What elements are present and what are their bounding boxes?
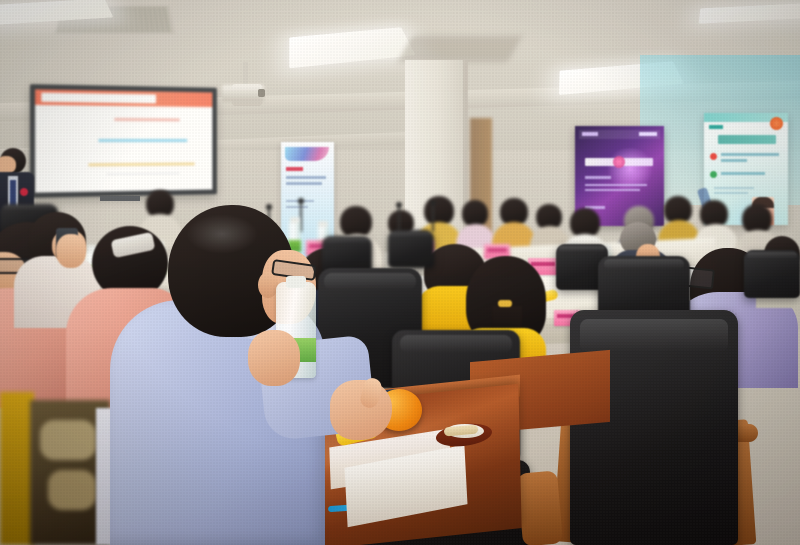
banner-text-line bbox=[286, 182, 322, 185]
projected-slide bbox=[35, 89, 212, 192]
person-raised-hand bbox=[56, 234, 86, 268]
projection-screen-base bbox=[100, 196, 140, 201]
projector-lens-icon bbox=[258, 89, 265, 97]
bottle-cap bbox=[290, 217, 300, 223]
foreground-blur-object bbox=[48, 470, 96, 510]
banner-text-line bbox=[585, 184, 647, 186]
conference-chair bbox=[388, 230, 434, 268]
banner-logo-right bbox=[639, 132, 657, 136]
banner-text-line bbox=[286, 176, 326, 179]
banner-text-line bbox=[721, 172, 765, 175]
projection-screen bbox=[30, 84, 217, 198]
conference-chair bbox=[744, 250, 800, 298]
bottle-cap bbox=[286, 276, 306, 288]
placard-text bbox=[487, 248, 507, 252]
foreground-yellow-object bbox=[0, 392, 34, 545]
slide-text-line bbox=[114, 118, 180, 121]
banner-bullet-icon bbox=[710, 153, 717, 160]
banner-logo bbox=[709, 125, 723, 129]
person-head-far bbox=[462, 200, 488, 227]
gooseneck-microphone bbox=[432, 204, 434, 232]
foreground-man-ear bbox=[258, 272, 278, 298]
banner-text-line bbox=[721, 153, 779, 156]
slide-text-line bbox=[106, 172, 179, 175]
banner-logo bbox=[286, 167, 303, 171]
presenter-lapel-flower bbox=[20, 188, 28, 196]
hair-tie bbox=[498, 300, 512, 307]
ceiling-shadow bbox=[398, 36, 522, 62]
placard-text bbox=[531, 262, 555, 266]
foreground-conference-chair bbox=[570, 310, 738, 545]
banner-text-line bbox=[286, 206, 308, 208]
banner-accent-dot bbox=[613, 156, 625, 168]
banner-graphic bbox=[285, 147, 329, 161]
banner-text-line bbox=[585, 176, 611, 179]
banner-text-line bbox=[721, 159, 747, 162]
microphone-head-icon bbox=[298, 198, 304, 204]
banner-headline bbox=[718, 135, 776, 144]
foreground-man-hand-left bbox=[248, 330, 300, 386]
banner-badge-icon bbox=[770, 117, 783, 130]
microphone-head-icon bbox=[430, 200, 436, 206]
bottle-cap bbox=[318, 221, 328, 227]
foreground-man-hand-right bbox=[330, 380, 392, 440]
hair-highlight bbox=[186, 214, 258, 254]
microphone-head-icon bbox=[266, 204, 272, 210]
banner-bullet-icon bbox=[710, 171, 717, 178]
slide-text-line bbox=[88, 162, 194, 166]
microphone-head-icon bbox=[396, 202, 402, 208]
slide-text-line bbox=[98, 139, 187, 142]
conference-room-photo: Conference room meeting photograph Inter… bbox=[0, 0, 800, 545]
banner-text-line bbox=[714, 187, 754, 189]
chair-wood-frame bbox=[517, 470, 563, 545]
gooseneck-microphone bbox=[398, 206, 400, 232]
foreground-blur-object bbox=[40, 420, 96, 460]
slide-title-block bbox=[41, 93, 156, 104]
banner-logo-left bbox=[582, 132, 598, 136]
banner-text-line bbox=[585, 189, 640, 191]
